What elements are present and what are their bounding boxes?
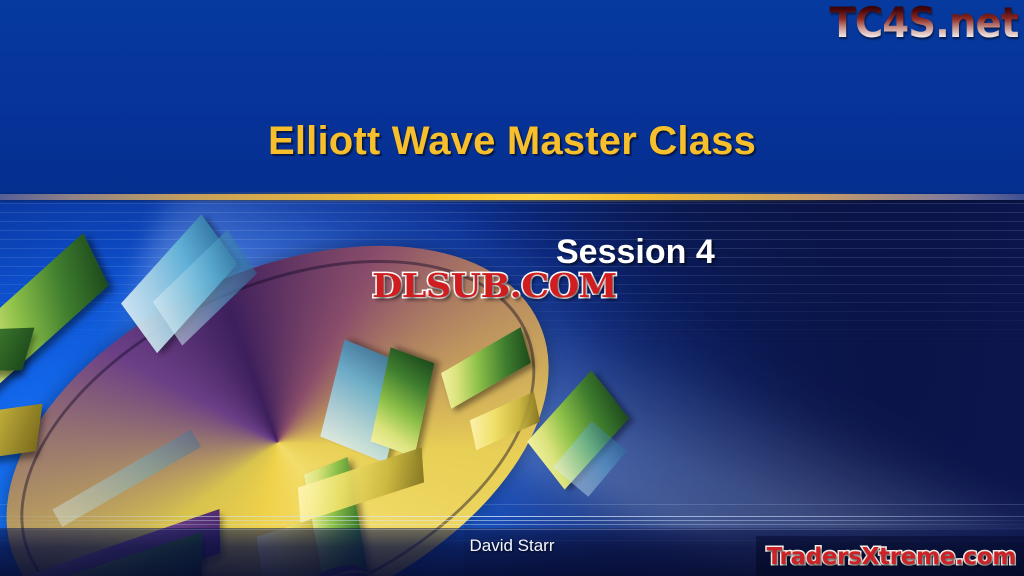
page-title: Elliott Wave Master Class: [0, 119, 1024, 164]
presentation-slide: Elliott Wave Master Class Session 4 Davi…: [0, 0, 1024, 576]
lower-accent-rules: [0, 516, 1024, 532]
tradersxtreme-watermark: TradersXtreme.com: [767, 544, 1016, 570]
dlsub-watermark: DLSUB.COM: [372, 266, 617, 305]
gold-horizontal-rule: [0, 194, 1024, 200]
tc4s-watermark: TC4S.net: [829, 2, 1018, 44]
